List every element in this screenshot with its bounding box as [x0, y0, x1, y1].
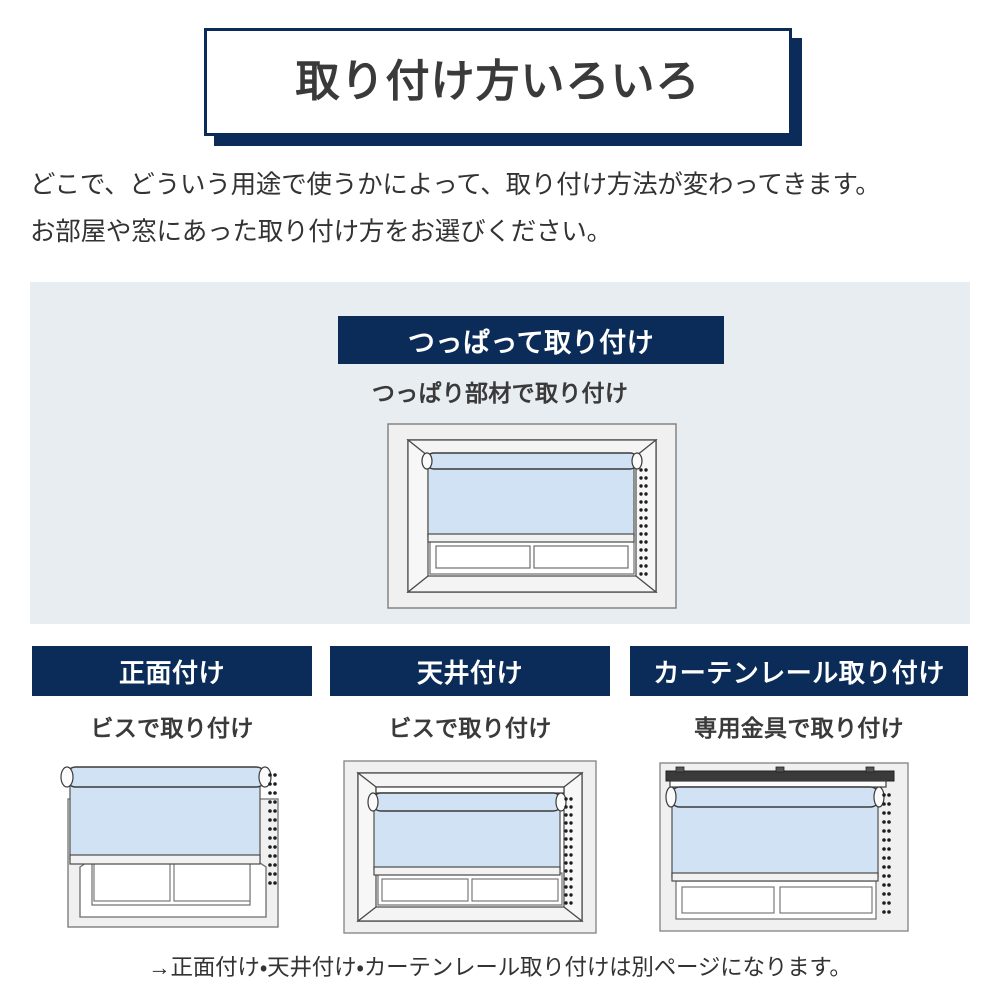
face-mount-window-diagram	[32, 751, 312, 941]
method-subtitle-ceiling-mount: ビスで取り付け	[330, 709, 610, 743]
method-subtitle-face-mount: ビスで取り付け	[32, 709, 312, 743]
ceiling-mount-window-diagram	[330, 751, 610, 941]
method-subtitle-curtain-rail-mount: 専用金具で取り付け	[630, 709, 968, 743]
curtain-rail-mount-window-diagram	[630, 751, 968, 941]
method-badge-label: カーテンレール取り付け	[653, 653, 945, 690]
featured-subtitle: つっぱり部材で取り付け	[30, 374, 970, 408]
method-column-ceiling-mount: 天井付け ビスで取り付け	[330, 646, 610, 941]
tension-mount-window-diagram	[382, 420, 682, 612]
method-badge-label: 正面付け	[119, 653, 225, 690]
install-methods-infographic: 取り付け方いろいろ どこで、どういう用途で使うかによって、取り付け方法が変わって…	[0, 0, 1000, 1000]
method-column-curtain-rail-mount: カーテンレール取り付け 専用金具で取り付け	[630, 646, 968, 941]
featured-badge-label: つっぱって取り付け	[408, 321, 654, 360]
method-badge-curtain-rail-mount[interactable]: カーテンレール取り付け	[630, 646, 968, 696]
lead-line-2: お部屋や窓にあった取り付け方をお選びください。	[30, 209, 980, 256]
footnote: →正面付け・天井付け・カーテンレール取り付けは別ページになります。	[0, 950, 1000, 982]
method-columns: 正面付け ビスで取り付け	[0, 646, 1000, 946]
method-badge-ceiling-mount[interactable]: 天井付け	[330, 646, 610, 696]
title-box: 取り付け方いろいろ	[204, 28, 792, 136]
lead-paragraph: どこで、どういう用途で使うかによって、取り付け方法が変わってきます。 お部屋や窓…	[30, 162, 980, 256]
method-badge-label: 天井付け	[417, 653, 523, 690]
featured-method-panel: つっぱって取り付け つっぱり部材で取り付け	[30, 282, 970, 624]
method-badge-face-mount[interactable]: 正面付け	[32, 646, 312, 696]
featured-badge[interactable]: つっぱって取り付け	[338, 316, 724, 364]
lead-line-1: どこで、どういう用途で使うかによって、取り付け方法が変わってきます。	[30, 162, 980, 209]
page-title-block: 取り付け方いろいろ	[204, 28, 792, 136]
page-title: 取り付け方いろいろ	[296, 60, 701, 104]
method-column-face-mount: 正面付け ビスで取り付け	[32, 646, 312, 941]
